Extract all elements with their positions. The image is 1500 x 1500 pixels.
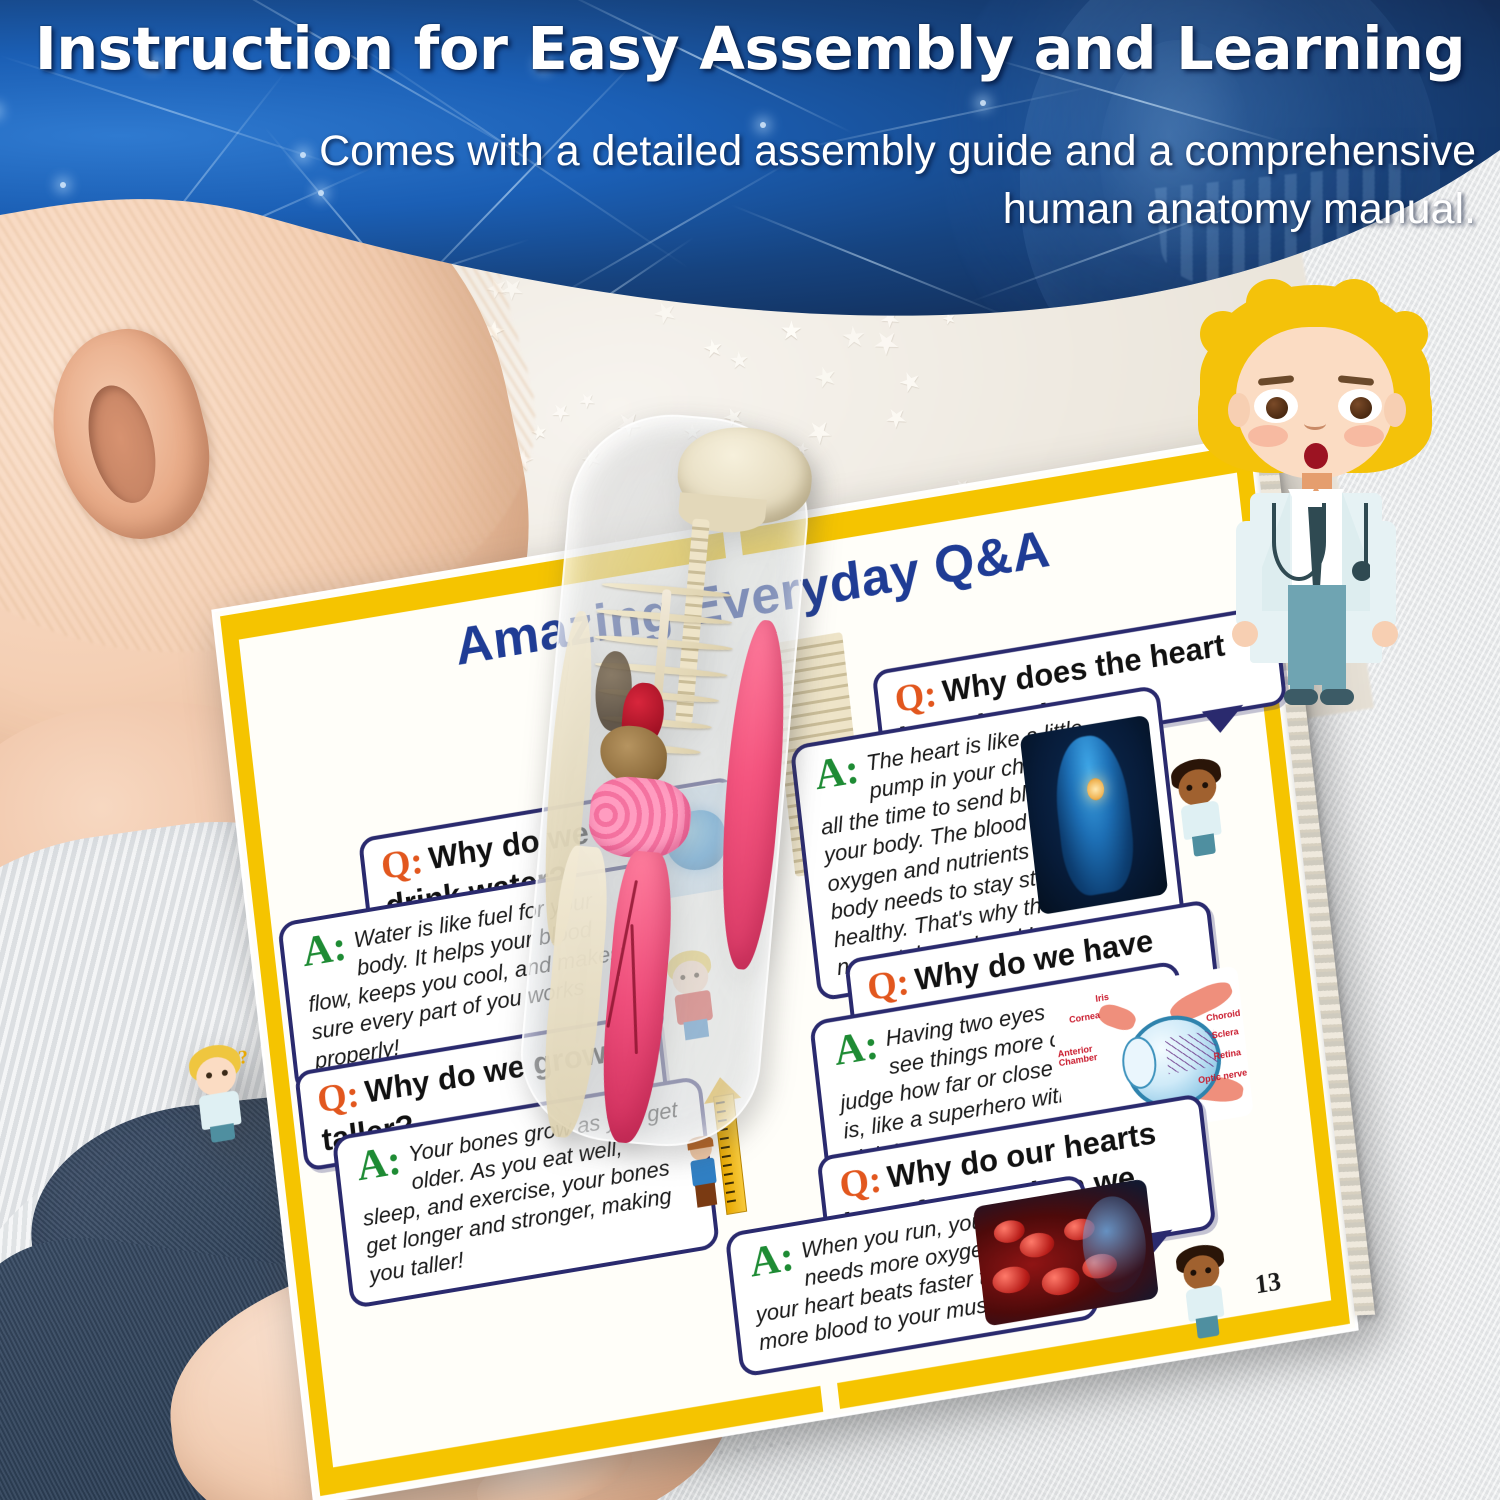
q-marker: Q: xyxy=(865,960,912,1011)
a-marker: A: xyxy=(832,1027,880,1072)
eye-label-cornea: Cornea xyxy=(1069,1010,1101,1025)
a-marker: A: xyxy=(301,928,349,973)
mascot-ear-right xyxy=(1384,393,1406,427)
a-marker: A: xyxy=(748,1239,796,1284)
a-marker: A: xyxy=(355,1142,403,1187)
circulatory-body-illustration xyxy=(1020,715,1169,916)
stethoscope-bell-icon xyxy=(1352,561,1372,581)
q-marker: Q: xyxy=(892,671,939,722)
eye-label-sclera: Sclera xyxy=(1211,1026,1239,1040)
mascot-dark-skin-doctor-kid-2 xyxy=(1169,1241,1239,1346)
mascot-ear-left xyxy=(1228,393,1250,427)
product-marketing-image: ★★★★★★★★★★★★★★★★★★★★★★★★★★★★★★★★★★★★★★★★… xyxy=(0,0,1500,1500)
mascot-eye-left xyxy=(1254,389,1298,423)
mascot-arm-left xyxy=(1236,521,1262,629)
subheadline-line-1: Comes with a detailed assembly guide and… xyxy=(319,127,1476,175)
q-marker: Q: xyxy=(379,838,426,889)
subheadline-line-2: human anatomy manual. xyxy=(296,180,1476,238)
mascot-shoe-right xyxy=(1320,689,1354,705)
stethoscope-icon xyxy=(1272,503,1326,581)
eye-label-anterior-chamber: Anterior Chamber xyxy=(1057,1041,1112,1069)
q-marker: Q: xyxy=(837,1157,884,1208)
headline-text: Instruction for Easy Assembly and Learni… xyxy=(0,14,1500,83)
mascot-dark-skin-doctor-kid xyxy=(1164,754,1236,864)
a-marker: A: xyxy=(813,751,861,796)
subheadline-text: Comes with a detailed assembly guide and… xyxy=(296,122,1476,239)
mascot-nose xyxy=(1304,417,1326,430)
doctor-mascot xyxy=(1200,285,1430,705)
mascot-cheek-left xyxy=(1248,425,1288,447)
mascot-hand-left xyxy=(1232,621,1258,647)
stethoscope-tube-icon xyxy=(1352,503,1368,565)
mascot-hand-right xyxy=(1372,621,1398,647)
mascot-shoe-left xyxy=(1284,689,1318,705)
mascot-arm-right xyxy=(1370,521,1396,629)
page-number: 13 xyxy=(1253,1267,1282,1301)
q-marker: Q: xyxy=(315,1072,362,1123)
mascot-eye-right xyxy=(1338,389,1382,423)
mascot-cheek-right xyxy=(1344,425,1384,447)
eye-label-iris: Iris xyxy=(1095,991,1109,1003)
mascot-mouth xyxy=(1304,443,1328,469)
mascot-blond-kid: ? xyxy=(181,1040,255,1146)
